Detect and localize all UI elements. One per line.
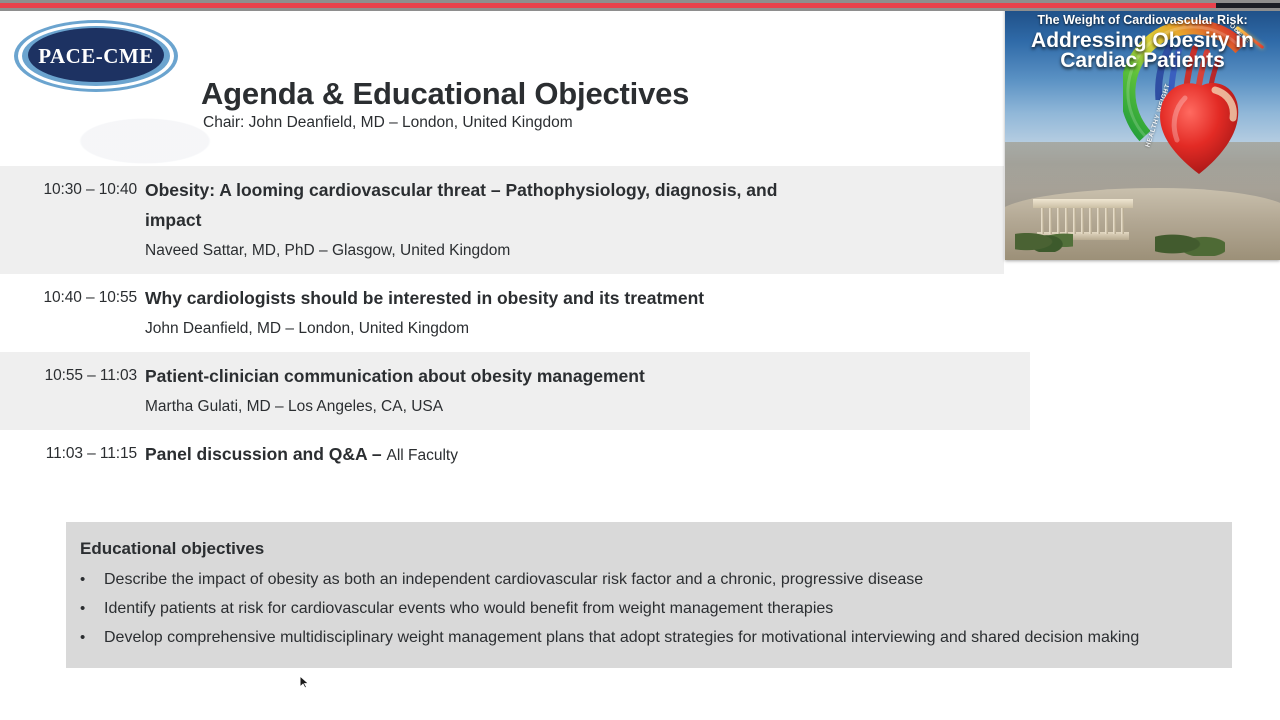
progress-bar-remaining[interactable] xyxy=(1216,3,1280,8)
agenda-row-body: Panel discussion and Q&A – All Faculty xyxy=(145,439,1030,471)
pip-video-overlay[interactable]: HEALTHY WEIGHT OBESE The Weight of Cardi… xyxy=(1005,0,1280,260)
objective-text: Develop comprehensive multidisciplinary … xyxy=(104,623,1214,652)
pip-parthenon-column xyxy=(1081,208,1084,234)
agenda-row-title-text: Panel discussion and Q&A – xyxy=(145,444,387,464)
agenda-row-speaker: Martha Gulati, MD – Los Angeles, CA, USA xyxy=(145,393,1010,421)
agenda-row-title: Patient-clinician communication about ob… xyxy=(145,361,1005,391)
agenda-row-speaker: Naveed Sattar, MD, PhD – Glasgow, United… xyxy=(145,237,984,265)
agenda-row: 10:40 – 10:55 Why cardiologists should b… xyxy=(0,274,1030,352)
agenda-row-body: Obesity: A looming cardiovascular threat… xyxy=(145,175,1004,265)
pip-parthenon-column xyxy=(1073,208,1076,234)
agenda-row-title: Panel discussion and Q&A – All Faculty xyxy=(145,439,1005,471)
agenda-row-body: Patient-clinician communication about ob… xyxy=(145,361,1030,421)
logo-oval-icon xyxy=(12,17,180,95)
educational-objectives-box: Educational objectives • Describe the im… xyxy=(66,522,1232,668)
pip-parthenon-column xyxy=(1113,208,1116,234)
agenda-row-time: 10:30 – 10:40 xyxy=(0,175,145,205)
video-player-chrome xyxy=(0,0,1280,11)
agenda-row-title: Why cardiologists should be interested i… xyxy=(145,283,795,313)
pip-parthenon-column xyxy=(1121,208,1124,234)
agenda-row-body: Why cardiologists should be interested i… xyxy=(145,283,1030,343)
pip-parthenon-column xyxy=(1105,208,1108,234)
progress-bar-fill[interactable] xyxy=(0,3,1216,8)
objectives-heading: Educational objectives xyxy=(80,536,1214,562)
heart-icon xyxy=(1155,72,1243,176)
pip-title-line-1: The Weight of Cardiovascular Risk: xyxy=(1037,13,1247,27)
pip-title-block: The Weight of Cardiovascular Risk: Addre… xyxy=(1005,12,1280,72)
bullet-icon: • xyxy=(80,565,104,594)
bullet-icon: • xyxy=(80,594,104,623)
pip-title-line-2: Addressing Obesity in xyxy=(1005,30,1280,52)
objective-item: • Identify patients at risk for cardiova… xyxy=(80,594,1214,623)
pip-parthenon-column xyxy=(1089,208,1092,234)
agenda-row-time: 10:40 – 10:55 xyxy=(0,283,145,313)
pip-trees xyxy=(1015,226,1073,252)
agenda-row-speaker: John Deanfield, MD – London, United King… xyxy=(145,315,1010,343)
page-title: Agenda & Educational Objectives xyxy=(201,76,689,112)
pip-parthenon-roof xyxy=(1033,199,1133,208)
objective-text: Describe the impact of obesity as both a… xyxy=(104,565,1214,594)
objective-text: Identify patients at risk for cardiovasc… xyxy=(104,594,1214,623)
objective-item: • Develop comprehensive multidisciplinar… xyxy=(80,623,1214,652)
pace-cme-logo: PACE-CME xyxy=(12,17,180,95)
chair-line: Chair: John Deanfield, MD – London, Unit… xyxy=(203,114,573,132)
agenda-row: 11:03 – 11:15 Panel discussion and Q&A –… xyxy=(0,430,1030,480)
agenda-row-time: 11:03 – 11:15 xyxy=(0,439,145,469)
pip-title-line-3: Cardiac Patients xyxy=(1005,50,1280,72)
agenda-row-inline-speaker: All Faculty xyxy=(387,447,459,464)
pip-parthenon-column xyxy=(1097,208,1100,234)
bullet-icon: • xyxy=(80,623,104,652)
objective-item: • Describe the impact of obesity as both… xyxy=(80,565,1214,594)
agenda-row: 10:55 – 11:03 Patient-clinician communic… xyxy=(0,352,1030,430)
mouse-cursor xyxy=(299,675,310,689)
agenda-row: 10:30 – 10:40 Obesity: A looming cardiov… xyxy=(0,166,1004,274)
agenda-row-title: Obesity: A looming cardiovascular threat… xyxy=(145,175,795,235)
agenda-row-time: 10:55 – 11:03 xyxy=(0,361,145,391)
background-watermark xyxy=(70,115,220,167)
pip-trees xyxy=(1155,226,1225,256)
